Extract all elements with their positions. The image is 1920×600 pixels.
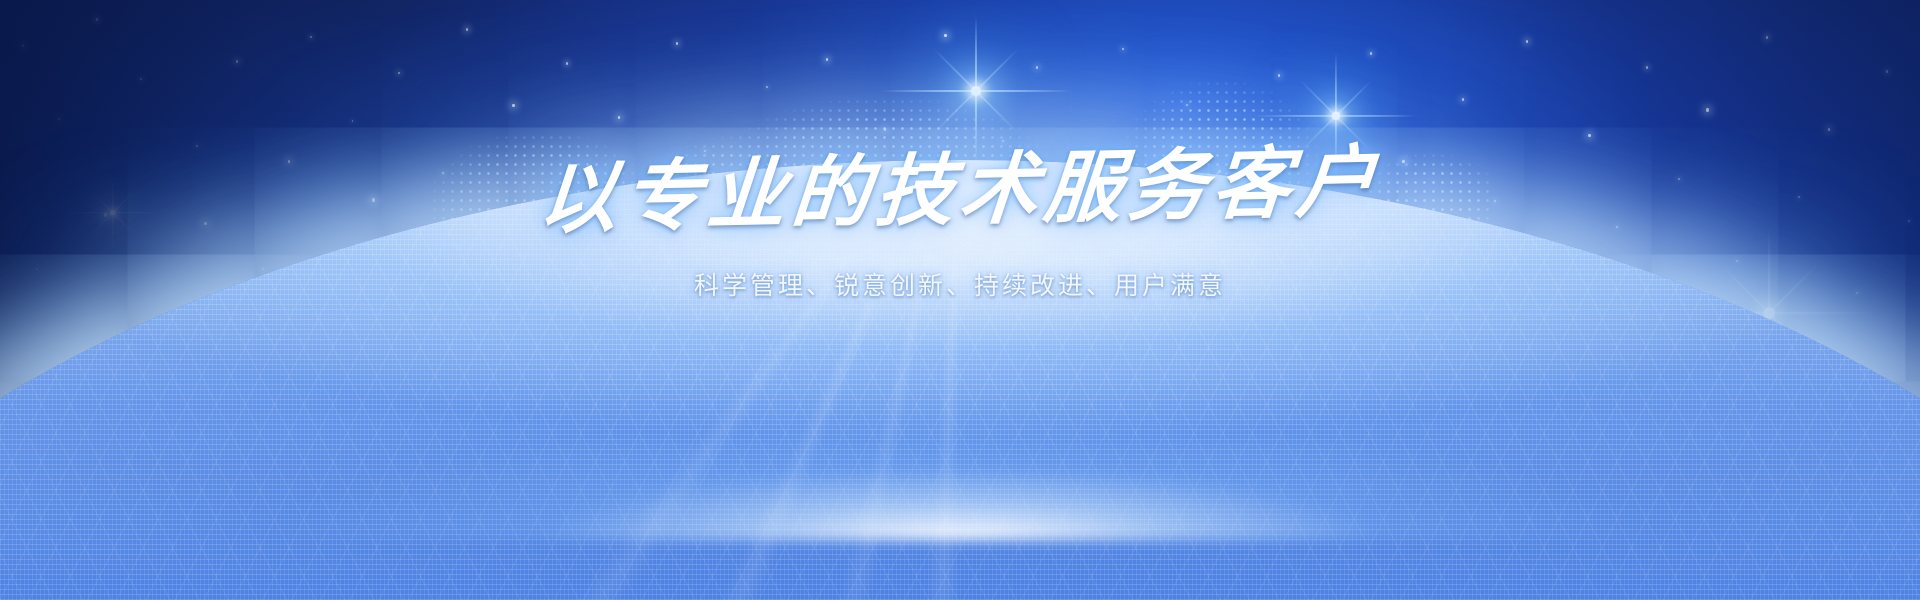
star-dot [618, 116, 620, 119]
star-dot [1706, 108, 1709, 112]
star-dot [466, 28, 468, 31]
star-dot [944, 34, 947, 37]
star-dot [140, 78, 142, 80]
star-dot [1002, 140, 1004, 142]
banner-subtitle: 科学管理、锐意创新、持续改进、用户满意 [0, 266, 1920, 302]
star-dot [1278, 74, 1280, 77]
flare-right-icon [1335, 115, 1336, 116]
star-dot [352, 120, 353, 122]
star-dot [1036, 66, 1038, 69]
star-dot [1766, 36, 1768, 39]
star-dot [58, 118, 60, 120]
star-dot [1828, 128, 1830, 131]
star-dot [1186, 104, 1188, 106]
flare-ray [975, 16, 977, 166]
star-dot [310, 36, 312, 38]
star-dot [1122, 48, 1124, 50]
star-dot [512, 104, 515, 107]
star-dot [398, 72, 400, 74]
star-dot [1462, 98, 1464, 101]
star-dot [1370, 52, 1372, 55]
flare-center-icon [975, 90, 976, 91]
flare-ray [881, 90, 1071, 92]
star-dot [566, 62, 568, 65]
star-dot [196, 145, 198, 147]
flare-ray [1255, 115, 1417, 117]
flare-core [971, 86, 981, 96]
star-dot [826, 58, 828, 61]
star-dot [676, 42, 678, 45]
star-dot [22, 44, 24, 47]
banner-headline: 以专业的技术服务客户 [0, 130, 1920, 252]
flare-ray [932, 47, 1018, 133]
star-dot [96, 18, 98, 21]
star-dot [766, 86, 768, 88]
star-dot [1646, 66, 1648, 69]
banner-copy: 以专业的技术服务客户 科学管理、锐意创新、持续改进、用户满意 [0, 150, 1920, 302]
star-dot [1886, 70, 1888, 73]
star-dot [236, 60, 238, 63]
star-dot [1526, 40, 1528, 43]
hero-banner: 以专业的技术服务客户 科学管理、锐意创新、持续改进、用户满意 [0, 0, 1920, 600]
flare-core [1331, 111, 1340, 120]
flare-ray [932, 47, 1018, 133]
star-dot [884, 128, 886, 131]
